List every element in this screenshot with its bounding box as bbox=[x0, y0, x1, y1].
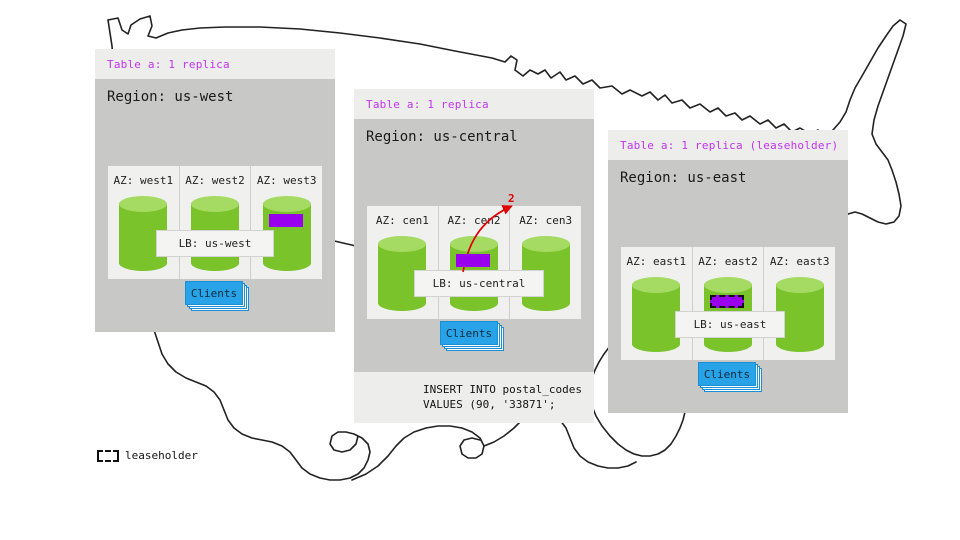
az-cell-west1[interactable]: AZ: west1 bbox=[108, 166, 180, 279]
region-title-us-east: Region: us-east bbox=[608, 160, 848, 186]
load-balancer-us-central[interactable]: LB: us-central bbox=[414, 270, 544, 297]
az-cell-cen2[interactable]: AZ: cen2 bbox=[439, 206, 511, 319]
az-label-west2: AZ: west2 bbox=[185, 174, 245, 187]
replica-marker-leaseholder-east2 bbox=[710, 295, 744, 308]
dashed-rectangle-icon bbox=[97, 450, 119, 462]
cylinder-top bbox=[704, 277, 752, 293]
cylinder-top bbox=[632, 277, 680, 293]
node-cylinder-east1[interactable] bbox=[632, 277, 680, 352]
az-label-west3: AZ: west3 bbox=[257, 174, 317, 187]
legend: leaseholder bbox=[97, 449, 198, 462]
cylinder-top bbox=[378, 236, 426, 252]
clients-label-us-east[interactable]: Clients bbox=[698, 362, 756, 386]
table-replica-label-us-central: Table a: 1 replica bbox=[366, 98, 489, 111]
cylinder-top bbox=[119, 196, 167, 212]
load-balancer-us-west[interactable]: LB: us-west bbox=[156, 230, 274, 257]
az-label-east3: AZ: east3 bbox=[770, 255, 830, 268]
legend-label: leaseholder bbox=[125, 449, 198, 462]
az-cell-cen3[interactable]: AZ: cen3 bbox=[510, 206, 581, 319]
az-label-cen2: AZ: cen2 bbox=[448, 214, 501, 227]
region-panel-us-central: Table a: 1 replica Region: us-central AZ… bbox=[354, 89, 594, 423]
az-cell-west3[interactable]: AZ: west3 bbox=[251, 166, 322, 279]
az-label-west1: AZ: west1 bbox=[114, 174, 174, 187]
az-strip-us-east: AZ: east1 AZ: east2 AZ: east3 bbox=[621, 247, 835, 360]
az-strip-us-west: AZ: west1 AZ: west2 AZ: west3 bbox=[108, 166, 322, 279]
table-replica-label-us-east: Table a: 1 replica (leaseholder) bbox=[620, 139, 838, 152]
clients-label-us-west[interactable]: Clients bbox=[185, 281, 243, 305]
az-cell-east2[interactable]: AZ: east2 bbox=[693, 247, 765, 360]
region-panel-us-west: Table a: 1 replica Region: us-west AZ: w… bbox=[95, 49, 335, 332]
clients-stack-us-west[interactable]: Clients bbox=[185, 281, 243, 305]
panel-header-us-west: Table a: 1 replica bbox=[95, 49, 335, 79]
az-cell-east1[interactable]: AZ: east1 bbox=[621, 247, 693, 360]
clients-stack-us-central[interactable]: Clients bbox=[440, 321, 498, 345]
az-cell-cen1[interactable]: AZ: cen1 bbox=[367, 206, 439, 319]
region-title-us-west: Region: us-west bbox=[95, 79, 335, 105]
sql-statement: INSERT INTO postal_codes VALUES (90, '33… bbox=[423, 382, 588, 412]
az-label-east1: AZ: east1 bbox=[627, 255, 687, 268]
diagram-canvas: Table a: 1 replica Region: us-west AZ: w… bbox=[0, 0, 960, 540]
panel-header-us-east: Table a: 1 replica (leaseholder) bbox=[608, 130, 848, 160]
az-label-cen3: AZ: cen3 bbox=[519, 214, 572, 227]
az-cell-east3[interactable]: AZ: east3 bbox=[764, 247, 835, 360]
cylinder-top bbox=[191, 196, 239, 212]
table-replica-label-us-west: Table a: 1 replica bbox=[107, 58, 230, 71]
az-strip-us-central: AZ: cen1 AZ: cen2 AZ: cen3 bbox=[367, 206, 581, 319]
az-cell-west2[interactable]: AZ: west2 bbox=[180, 166, 252, 279]
cylinder-top bbox=[450, 236, 498, 252]
region-title-us-central: Region: us-central bbox=[354, 119, 594, 145]
replica-marker-west3 bbox=[269, 214, 303, 227]
panel-header-us-central: Table a: 1 replica bbox=[354, 89, 594, 119]
cylinder-top bbox=[522, 236, 570, 252]
az-label-cen1: AZ: cen1 bbox=[376, 214, 429, 227]
az-label-east2: AZ: east2 bbox=[698, 255, 758, 268]
cylinder-top bbox=[776, 277, 824, 293]
clients-label-us-central[interactable]: Clients bbox=[440, 321, 498, 345]
load-balancer-us-east[interactable]: LB: us-east bbox=[675, 311, 785, 338]
region-panel-us-east: Table a: 1 replica (leaseholder) Region:… bbox=[608, 130, 848, 413]
cylinder-top bbox=[263, 196, 311, 212]
arrow-step-number: 2 bbox=[508, 192, 515, 205]
replica-marker-cen2 bbox=[456, 254, 490, 267]
cylinder-body bbox=[632, 284, 680, 345]
clients-stack-us-east[interactable]: Clients bbox=[698, 362, 756, 386]
